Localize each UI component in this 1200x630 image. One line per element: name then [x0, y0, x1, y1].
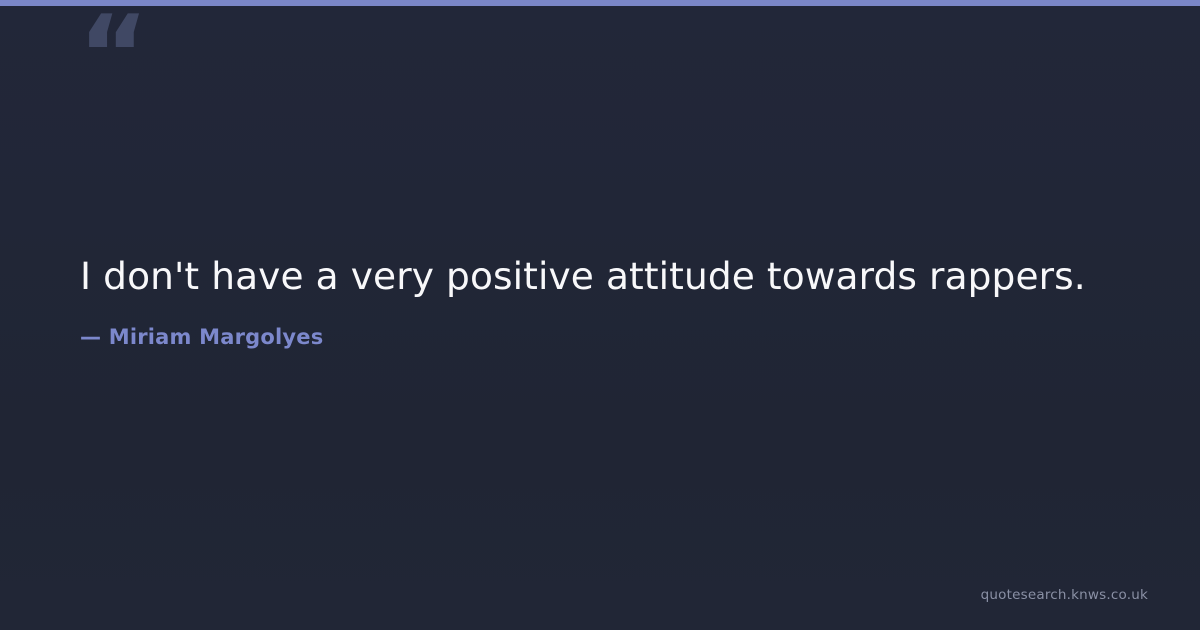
quote-content: I don't have a very positive attitude to… — [80, 250, 1120, 350]
quote-card: “ I don't have a very positive attitude … — [0, 0, 1200, 630]
opening-quote-icon: “ — [78, 8, 198, 104]
top-accent-bar — [0, 0, 1200, 6]
quote-text: I don't have a very positive attitude to… — [80, 250, 1120, 302]
site-watermark: quotesearch.knws.co.uk — [981, 586, 1148, 604]
author-name: Miriam Margolyes — [109, 325, 324, 349]
quote-attribution: — Miriam Margolyes — [80, 302, 1120, 350]
attribution-dash: — — [80, 325, 101, 349]
